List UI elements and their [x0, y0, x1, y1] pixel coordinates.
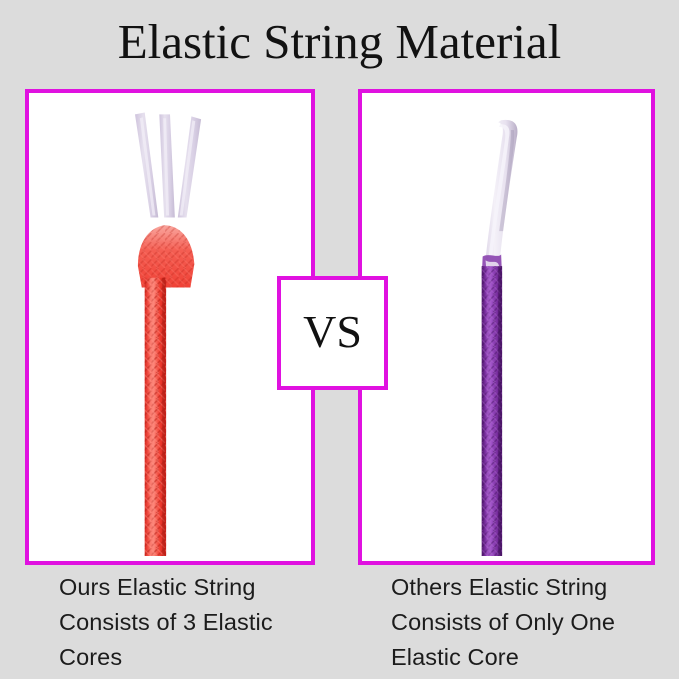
page-title: Elastic String Material — [0, 14, 679, 70]
elastic-core-strands — [135, 112, 201, 217]
red-braided-elastic-string-icon — [29, 93, 311, 556]
purple-cord-body — [482, 266, 502, 556]
vs-label: VS — [303, 309, 362, 355]
others-caption-line-1: Others Elastic String — [391, 570, 676, 605]
purple-single-core-elastic-string-icon — [362, 93, 651, 556]
ours-panel — [25, 89, 315, 565]
others-caption-line-3: Elastic Core — [391, 640, 676, 675]
ours-caption-line-3: Cores — [59, 640, 339, 675]
ours-caption: Ours Elastic String Consists of 3 Elasti… — [59, 570, 339, 675]
ours-caption-line-1: Ours Elastic String — [59, 570, 339, 605]
vs-badge: VS — [277, 276, 388, 390]
others-panel — [358, 89, 655, 565]
comparison-infographic: Elastic String Material — [0, 0, 679, 679]
others-caption: Others Elastic String Consists of Only O… — [391, 570, 676, 675]
braided-cord-body — [145, 278, 166, 556]
single-elastic-core — [485, 120, 519, 268]
others-caption-line-2: Consists of Only One — [391, 605, 676, 640]
ours-caption-line-2: Consists of 3 Elastic — [59, 605, 339, 640]
